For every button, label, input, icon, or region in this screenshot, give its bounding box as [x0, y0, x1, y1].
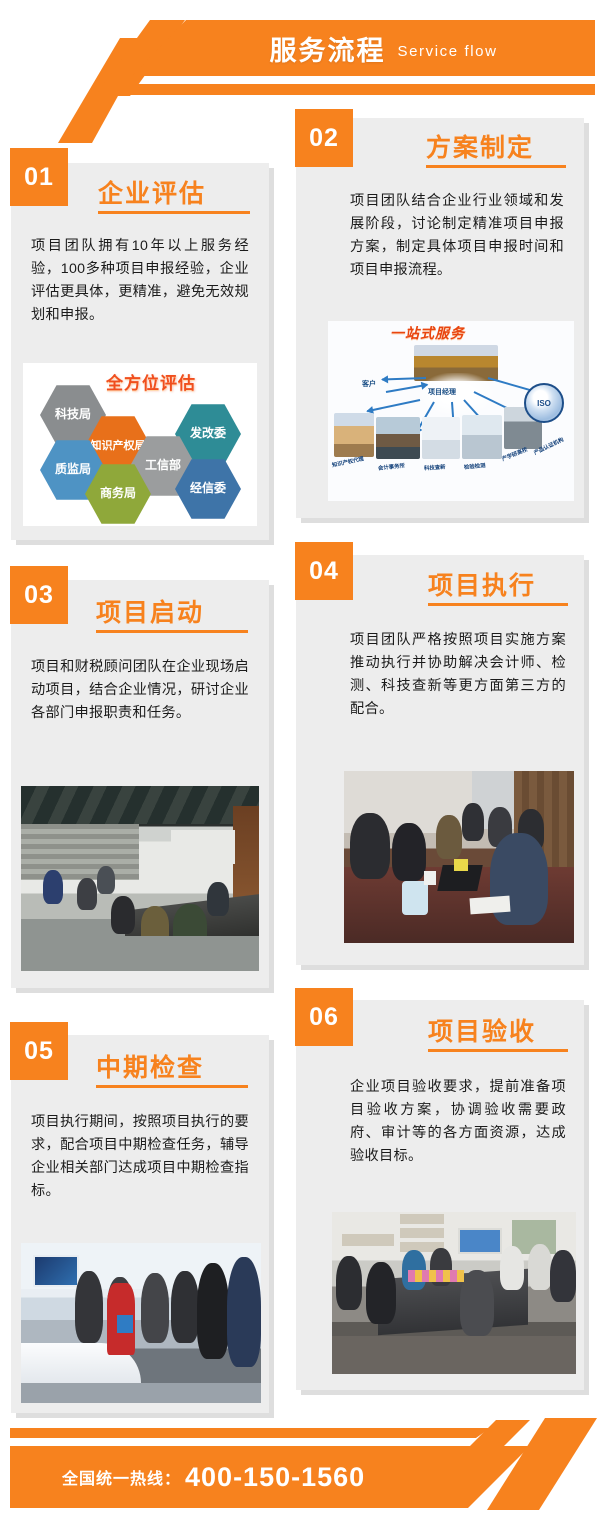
card-05-body: 项目执行期间，按照项目执行的要求，配合项目中期检查任务，辅导企业相关部门达成项目… — [31, 1111, 249, 1203]
hex-node-label: 科技局 — [55, 408, 91, 421]
footer-hotline-bar: 全国统一热线： 400-150-1560 — [10, 1446, 530, 1508]
card-02-body: 项目团队结合企业行业领域和发展阶段，讨论制定精准项目申报方案，制定具体项目申报时… — [350, 190, 564, 282]
hex-node-label: 发改委 — [190, 427, 226, 440]
card-05-title: 中期检查 — [96, 1048, 204, 1084]
card-02-title: 方案制定 — [426, 128, 534, 164]
infographic-page: 服务流程 Service flow 01 企业评估 项目团队拥有10年以上服务经… — [0, 0, 605, 1538]
one-stop-branch-photo — [334, 413, 374, 457]
card-01-number-badge: 01 — [10, 148, 68, 206]
card-01-title: 企业评估 — [98, 174, 206, 210]
card-02-title-rule — [426, 165, 566, 168]
card-05-number-badge: 05 — [10, 1022, 68, 1080]
card-04-number-badge: 04 — [295, 542, 353, 600]
one-stop-branch-photo — [462, 415, 502, 459]
card-04-title-rule — [428, 603, 568, 606]
card-06-photo — [332, 1212, 576, 1374]
card-02-number-badge: 02 — [295, 109, 353, 167]
card-03-title: 项目启动 — [96, 593, 204, 629]
one-stop-branch-label: 会计事务所 — [378, 461, 406, 472]
hotline-number[interactable]: 400-150-1560 — [185, 1462, 365, 1493]
card-05-title-rule — [96, 1085, 248, 1088]
card-02-one-stop-diagram: 一站式服务 客户 项目经理 ISO — [328, 321, 574, 501]
card-06-title-rule — [428, 1049, 568, 1052]
iso-badge-text: ISO — [537, 399, 551, 408]
page-header: 服务流程 Service flow — [0, 0, 605, 110]
card-05-photo — [21, 1243, 261, 1403]
one-stop-certification-badge: ISO — [524, 383, 564, 423]
page-subtitle: Service flow — [397, 37, 497, 60]
header-banner: 服务流程 Service flow — [132, 20, 595, 76]
one-stop-branch-photo — [422, 417, 460, 459]
hex-node-label: 知识产权局 — [91, 440, 146, 452]
card-04: 04 项目执行 项目团队严格按照项目实施方案推动执行并协助解决会计师、检测、科技… — [296, 555, 584, 965]
one-stop-arrow — [367, 399, 420, 412]
card-01-body: 项目团队拥有10年以上服务经验，100多种项目申报经验，企业评估更具体，更精准，… — [31, 235, 249, 327]
card-01-title-rule — [98, 211, 250, 214]
card-04-title: 项目执行 — [428, 566, 536, 602]
one-stop-branch-label: 检验检测 — [464, 461, 486, 471]
card-01-hex-diagram: 全方位评估 科技局 知识产权局 发改委 质监局 工信部 商务局 经信委 — [23, 363, 257, 526]
one-stop-manager-label: 项目经理 — [428, 387, 456, 397]
hotline-label: 全国统一热线： — [62, 1465, 181, 1489]
card-06-title: 项目验收 — [428, 1012, 536, 1048]
card-05: 05 中期检查 项目执行期间，按照项目执行的要求，配合项目中期检查任务，辅导企业… — [11, 1035, 269, 1413]
card-03: 03 项目启动 项目和财税顾问团队在企业现场启动项目，结合企业情况，研讨企业各部… — [11, 580, 269, 988]
card-04-photo — [344, 771, 574, 943]
footer-thin-band — [10, 1428, 490, 1438]
card-03-photo — [21, 786, 259, 971]
one-stop-title: 一站式服务 — [390, 323, 465, 343]
card-04-body: 项目团队严格按照项目实施方案推动执行并协助解决会计师、检测、科技查新等更方面第三… — [350, 629, 566, 721]
card-06-body: 企业项目验收要求，提前准备项目验收方案，协调验收需要政府、审计等的各方面资源，达… — [350, 1076, 566, 1168]
one-stop-branch-label: 科技查新 — [424, 463, 446, 472]
card-02: 02 方案制定 项目团队结合企业行业领域和发展阶段，讨论制定精准项目申报方案，制… — [296, 118, 584, 518]
hex-diagram-title: 全方位评估 — [106, 369, 196, 394]
card-03-body: 项目和财税顾问团队在企业现场启动项目，结合企业情况，研讨企业各部门申报职责和任务… — [31, 656, 249, 725]
card-06: 06 项目验收 企业项目验收要求，提前准备项目验收方案，协调验收需要政府、审计等… — [296, 1000, 584, 1390]
one-stop-customer-label: 客户 — [362, 379, 376, 389]
card-06-number-badge: 06 — [295, 988, 353, 1046]
card-03-title-rule — [96, 630, 248, 633]
hex-node-label: 经信委 — [190, 482, 226, 495]
hex-node-label: 工信部 — [145, 459, 181, 472]
card-01: 01 企业评估 项目团队拥有10年以上服务经验，100多种项目申报经验，企业评估… — [11, 163, 269, 540]
card-03-number-badge: 03 — [10, 566, 68, 624]
header-thin-band — [113, 84, 595, 95]
hex-node-label: 商务局 — [100, 487, 136, 500]
page-footer: 全国统一热线： 400-150-1560 — [0, 1418, 605, 1538]
one-stop-branch-photo — [376, 417, 420, 459]
page-title: 服务流程 — [269, 29, 385, 68]
hex-node-label: 质监局 — [55, 463, 91, 476]
